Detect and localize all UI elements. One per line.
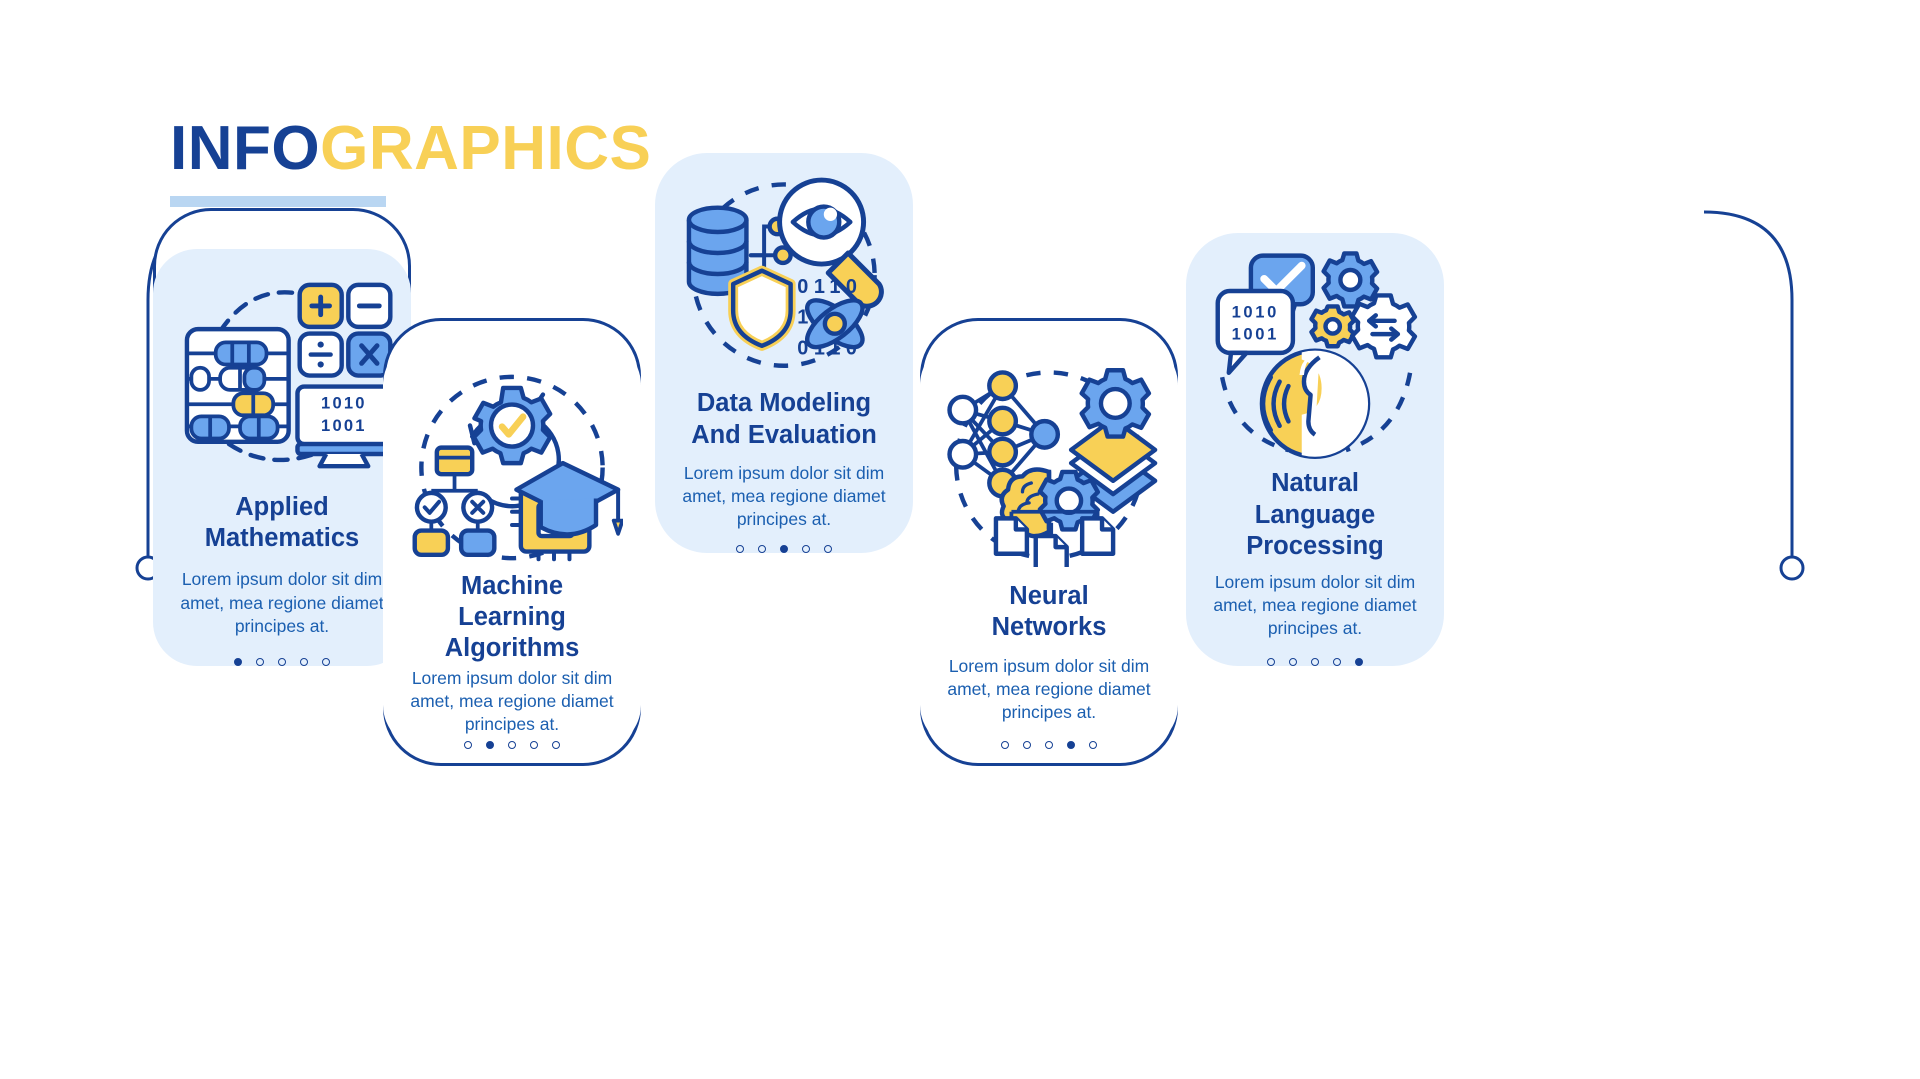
step-dot-3[interactable]: [278, 658, 286, 666]
page-header: INFOGRAPHICS: [170, 118, 651, 207]
step-dot-2[interactable]: [256, 658, 264, 666]
card-title: NaturalLanguageProcessing: [1232, 468, 1397, 561]
abacus-math-operators-binary-icon: 1010 1001: [171, 265, 393, 475]
card-title: Data ModelingAnd Evaluation: [677, 388, 891, 450]
step-dot-1[interactable]: [464, 741, 472, 749]
step-dot-2[interactable]: [1023, 741, 1031, 749]
card-body-text: Lorem ipsum dolor sit dim amet, mea regi…: [1186, 571, 1444, 640]
card-body-text: Lorem ipsum dolor sit dim amet, mea regi…: [920, 655, 1178, 724]
speech-bubbles-binary-gears-speaking-head-icon: 1010 1001: [1204, 249, 1426, 459]
step-dot-2[interactable]: [486, 741, 494, 749]
step-dot-5[interactable]: [322, 658, 330, 666]
step-dot-3[interactable]: [508, 741, 516, 749]
step-dot-4[interactable]: [300, 658, 308, 666]
svg-text:1010: 1010: [1232, 303, 1279, 322]
step-dot-3[interactable]: [780, 545, 788, 553]
card-body-text: Lorem ipsum dolor sit dim amet, mea regi…: [153, 568, 411, 637]
step-dot-3[interactable]: [1045, 741, 1053, 749]
step-indicator[interactable]: [736, 545, 832, 553]
infographic-canvas: INFOGRAPHICS: [0, 0, 1920, 1079]
step-dot-2[interactable]: [1289, 658, 1297, 666]
gear-check-flowchart-chip-graduation-cap-icon: [401, 357, 623, 567]
step-dot-5[interactable]: [552, 741, 560, 749]
step-dot-4[interactable]: [1067, 741, 1075, 749]
svg-text:0110: 0110: [797, 276, 862, 298]
step-indicator[interactable]: [1001, 741, 1097, 749]
step-dot-2[interactable]: [758, 545, 766, 553]
step-dot-1[interactable]: [1267, 658, 1275, 666]
title-underline-rule: [170, 196, 386, 207]
page-title: INFOGRAPHICS: [170, 118, 651, 180]
step-dot-1[interactable]: [1001, 741, 1009, 749]
page-title-primary: INFO: [170, 114, 320, 183]
step-dot-4[interactable]: [1333, 658, 1341, 666]
card-natural-language-processing[interactable]: 1010 1001: [1186, 208, 1444, 663]
card-data-modeling-and-evaluation[interactable]: 0110 1011 0110 Data ModelingAnd Evaluati…: [655, 128, 913, 550]
svg-text:1001: 1001: [321, 416, 367, 435]
step-dot-4[interactable]: [802, 545, 810, 553]
step-dot-5[interactable]: [1355, 658, 1363, 666]
step-dot-1[interactable]: [234, 658, 242, 666]
step-indicator[interactable]: [464, 741, 560, 749]
step-dot-4[interactable]: [530, 741, 538, 749]
card-title: AppliedMathematics: [191, 492, 373, 554]
step-indicator[interactable]: [1267, 658, 1363, 666]
svg-text:1010: 1010: [321, 394, 367, 413]
card-applied-mathematics[interactable]: 1010 1001 AppliedMathematics Lorem ipsum…: [153, 208, 411, 663]
database-magnifier-eye-shield-atom-binary-icon: 0110 1011 0110: [673, 169, 895, 379]
card-body-text: Lorem ipsum dolor sit dim amet, mea regi…: [655, 462, 913, 531]
card-title: MachineLearningAlgorithms: [431, 571, 594, 664]
connector-end-right: [1781, 557, 1803, 579]
step-dot-5[interactable]: [1089, 741, 1097, 749]
card-neural-networks[interactable]: NeuralNetworks Lorem ipsum dolor sit dim…: [920, 318, 1178, 766]
card-machine-learning-algorithms[interactable]: MachineLearningAlgorithms Lorem ipsum do…: [383, 318, 641, 766]
step-dot-3[interactable]: [1311, 658, 1319, 666]
step-dot-1[interactable]: [736, 545, 744, 553]
step-dot-5[interactable]: [824, 545, 832, 553]
card-body-text: Lorem ipsum dolor sit dim amet, mea regi…: [383, 667, 641, 736]
svg-text:1001: 1001: [1232, 325, 1279, 344]
step-indicator[interactable]: [234, 658, 330, 666]
card-title: NeuralNetworks: [978, 581, 1121, 643]
neural-net-gear-layers-brain-documents-icon: [938, 357, 1160, 567]
page-title-secondary: GRAPHICS: [320, 114, 651, 183]
